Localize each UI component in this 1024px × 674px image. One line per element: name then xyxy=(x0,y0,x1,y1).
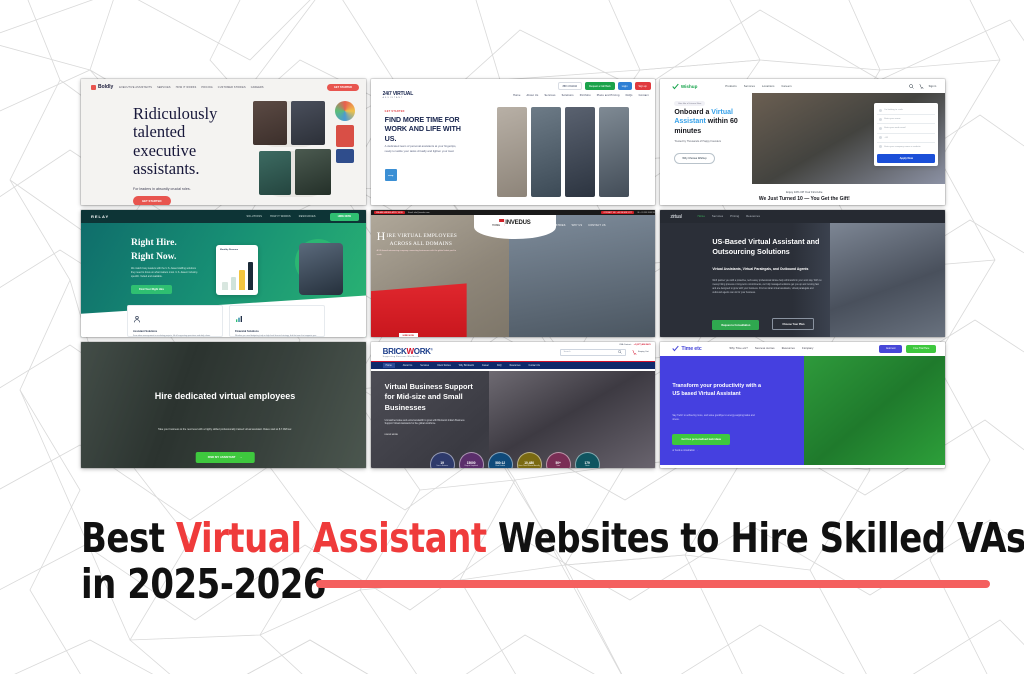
c9-nav-buttons: Auto test Free Trial Here xyxy=(879,345,936,353)
c3-navbar: Wishup Products Services Locations Caree… xyxy=(660,79,945,93)
c4-feature-card[interactable]: Assistant Solutions From inbox managemen… xyxy=(127,305,223,336)
c4-chart-card: Monthly Revenue xyxy=(216,245,258,295)
c9-headline: Transform your productivity with a US ba… xyxy=(672,382,764,400)
promo-line-1: Enjoy 10% Off Your First Hire xyxy=(786,190,822,194)
c8-logo-text: BRICKWORK® xyxy=(383,347,433,356)
nav-item[interactable]: Solutions xyxy=(562,94,574,97)
c8-enquiry-cart[interactable]: Enquiry Cart xyxy=(632,350,649,355)
c7-paragraph: Take your business to the next level wit… xyxy=(81,428,366,432)
c8-know-more-link[interactable]: KNOW MORE xyxy=(385,434,398,436)
stat-circle: 50+Team xyxy=(546,452,571,468)
nav-item[interactable]: Contact xyxy=(639,94,649,97)
nav-item[interactable]: Home xyxy=(698,215,705,218)
c8-search-area: Search Enquiry Cart xyxy=(560,349,649,356)
c2-eyebrow: GET STARTED xyxy=(385,110,405,113)
award-badge xyxy=(336,149,354,163)
nav-item[interactable]: Services xyxy=(420,365,429,367)
check-icon xyxy=(672,345,679,352)
nav-item[interactable]: CUSTOMER STORIES xyxy=(218,86,246,89)
nav-item[interactable]: Contact Us xyxy=(529,365,540,367)
form-row[interactable]: Enter your company name or website xyxy=(877,143,935,151)
nav-item[interactable]: ABOUT US xyxy=(510,224,524,227)
c3-headline: Onboard a Virtual Assistant within 60 mi… xyxy=(674,108,750,136)
nav-item[interactable]: PRICING xyxy=(201,86,212,89)
c6-secondary-cta[interactable]: Choose Your Plan xyxy=(772,318,814,330)
c2-topbar: 888 4 811044 Request a Call Back Login S… xyxy=(371,79,656,90)
nav-item[interactable]: FAQ xyxy=(497,365,502,367)
c5-cta-button[interactable]: HIRE NOW xyxy=(399,333,418,337)
site-card-invedus[interactable]: INVEDUS WE ARE HIRING! APPLY NOW Email: … xyxy=(371,210,656,336)
flag-icon xyxy=(879,136,882,139)
nav-item[interactable]: Resources xyxy=(746,215,760,218)
c3-nav-links: Products Services Locations Careers xyxy=(725,85,791,88)
c4-nav-links: SOLUTIONS HOW IT WORKS RESOURCES xyxy=(246,215,315,218)
site-card-time-etc[interactable]: Time etc Why Time etc? Success stories R… xyxy=(660,342,945,468)
c2-logo[interactable]: 24/7 VIRTUAL ASSISTANT xyxy=(383,91,413,99)
boldly-navbar: Boldly EXECUTIVE ASSISTANTS SERVICES HOW… xyxy=(81,79,366,95)
headline-highlight: Virtual Assistant xyxy=(176,514,487,562)
c6-headline: US-Based Virtual Assistant and Outsourci… xyxy=(712,237,830,257)
c6-navbar: zirtual Home Services Pricing Resources xyxy=(660,210,945,223)
chart-bar xyxy=(222,282,228,290)
hero-photo xyxy=(531,107,561,197)
chart-bar xyxy=(248,262,254,290)
c4-navbar: RELAY SOLUTIONS HOW IT WORKS RESOURCES H… xyxy=(81,210,366,223)
stat-circle: 19Years in Business xyxy=(430,452,455,468)
nav-item[interactable]: Locations xyxy=(762,85,775,88)
form-row[interactable]: Enter your work email xyxy=(877,124,935,133)
c7-headline: Hire dedicated virtual employees xyxy=(81,390,366,402)
c8-logo[interactable]: BRICKWORK® Supporting Business Worldwide xyxy=(383,347,433,359)
nav-item[interactable]: HOW IT WORKS xyxy=(176,86,197,89)
stat-circle: 15000Projects Completed xyxy=(459,452,484,468)
c6-primary-cta[interactable]: Request a Consultation xyxy=(712,320,759,330)
c2-headline: FIND MORE TIME FOR WORK AND LIFE WITH US… xyxy=(385,115,465,143)
headline-underline xyxy=(316,580,990,588)
login-button[interactable]: Login xyxy=(618,82,632,90)
c4-person-photo xyxy=(299,243,343,295)
nav-item[interactable]: CONTACT US xyxy=(588,224,605,227)
dropdown-icon xyxy=(879,109,882,112)
c4-headline: Right Hire.Right Now. xyxy=(131,237,177,265)
nav-item[interactable]: Plans and Pricing xyxy=(597,94,620,97)
nav-item[interactable]: Resources xyxy=(510,365,521,367)
nav-item[interactable]: EXECUTIVE ASSISTANTS xyxy=(119,86,152,89)
user-icon xyxy=(879,118,882,121)
nav-item[interactable]: HOW IT WORKS xyxy=(270,215,291,218)
promo-line-2: We Just Turned 10 — You Get the Gift! xyxy=(759,196,850,202)
cart-icon[interactable] xyxy=(919,84,924,89)
callback-button[interactable]: Request a Call Back xyxy=(585,82,615,90)
nav-item[interactable]: Success stories xyxy=(755,347,775,350)
c7-overlay xyxy=(81,342,366,468)
hero-photo xyxy=(599,107,629,197)
nav-item[interactable]: Services xyxy=(544,94,555,97)
nav-item[interactable]: Pricing xyxy=(730,215,739,218)
chart-bar xyxy=(239,270,245,290)
nav-item[interactable]: Careers xyxy=(782,85,792,88)
nav-item[interactable]: About Us xyxy=(403,365,412,367)
nav-item[interactable]: Client Stories xyxy=(437,365,451,367)
c9-navbar: Time etc Why Time etc? Success stories R… xyxy=(660,342,945,356)
c4-nav-cta[interactable]: HIRE NOW xyxy=(330,213,359,221)
website-card-grid: Boldly EXECUTIVE ASSISTANTS SERVICES HOW… xyxy=(81,79,945,468)
nav-item[interactable]: SOLUTIONS xyxy=(246,215,262,218)
signup-button[interactable]: Sign up xyxy=(635,82,651,90)
award-badge xyxy=(336,125,354,147)
c6-logo[interactable]: zirtual xyxy=(670,214,681,220)
check-icon xyxy=(672,83,679,90)
building-icon xyxy=(879,145,882,148)
c9-cta-button[interactable]: Get free personalised task ideas xyxy=(672,434,730,445)
stat-circle: 179Clients xyxy=(575,452,600,468)
site-card-relay[interactable]: Right Hire.Right Now. We match busy lead… xyxy=(81,210,366,336)
c8-header: BRICKWORK® Supporting Business Worldwide… xyxy=(371,346,656,362)
c5-paragraph: A UK-based outsourcing company connectin… xyxy=(377,250,457,256)
mail-icon xyxy=(879,127,882,130)
c2-arrow-button[interactable]: ⟶ xyxy=(385,169,397,181)
boldly-nav-links: EXECUTIVE ASSISTANTS SERVICES HOW IT WOR… xyxy=(119,86,263,89)
chart-bar xyxy=(231,277,237,290)
c8-logo-sub: Supporting Business Worldwide xyxy=(383,356,433,358)
search-icon[interactable] xyxy=(909,84,914,89)
hero-photo xyxy=(497,107,527,197)
site-card-247virtual[interactable]: 888 4 811044 Request a Call Back Login S… xyxy=(371,79,656,205)
feature-title: Financial Solutions xyxy=(235,330,319,333)
nav-item[interactable]: INDUSTRIES xyxy=(549,224,565,227)
bar-chart-icon xyxy=(235,315,243,323)
c2-paragraph: A dedicated team of personal assistants … xyxy=(385,144,457,153)
signin-link[interactable]: Sign in xyxy=(929,85,937,88)
feature-text: Whether you need budgeting help or high-… xyxy=(235,335,319,337)
nav-item[interactable]: Company xyxy=(802,347,814,350)
boldly-cta-button[interactable]: GET STARTED xyxy=(133,196,171,205)
c2-navbar: 24/7 VIRTUAL ASSISTANT Home About Us Ser… xyxy=(371,90,656,99)
form-row[interactable]: +91 xyxy=(877,134,935,143)
c9-nav-cta-2[interactable]: Free Trial Here xyxy=(906,345,936,353)
c9-nav-links: Why Time etc? Success stories Resources … xyxy=(730,347,814,350)
form-row[interactable]: I'm looking to scale xyxy=(877,106,935,115)
c5-nav-links: HOME ABOUT US SERVICES INDUSTRIES WHY US… xyxy=(489,222,606,228)
page-headline: Best Virtual Assistant Websites to Hire … xyxy=(81,515,981,607)
c8-stats-row: 19Years in Business 15000Projects Comple… xyxy=(430,452,600,468)
util-phone[interactable]: +1 (877) 898 2421 xyxy=(634,344,651,346)
c4-cta-button[interactable]: Find Your Right Hire xyxy=(131,285,172,294)
c4-hero: Right Hire.Right Now. We match busy lead… xyxy=(81,223,366,336)
boldly-headline: Ridiculously talented executive assistan… xyxy=(133,105,243,179)
nav-item[interactable]: Portfolio xyxy=(580,94,591,97)
c3-logo[interactable]: Wishup xyxy=(672,83,697,90)
c3-logo-text: Wishup xyxy=(681,84,698,89)
feature-title: Assistant Solutions xyxy=(133,330,217,333)
user-icon xyxy=(133,315,141,323)
c9-logo[interactable]: Time etc xyxy=(672,345,701,352)
stat-circle: 580:12Client Portfolio xyxy=(488,452,513,468)
c4-feature-card[interactable]: Financial Solutions Whether you need bud… xyxy=(229,305,325,336)
site-card-brickwork[interactable]: USA Contact: +1 (877) 898 2421 BRICKWORK… xyxy=(371,342,656,468)
nav-item[interactable]: SERVICES xyxy=(529,224,543,227)
c9-logo-text: Time etc xyxy=(681,346,701,352)
c3-trust-text: Trusted by Thousands of Happy Founders xyxy=(674,140,744,144)
c7-cta-button[interactable]: FIND MY ASSISTANT→ xyxy=(196,452,255,463)
c6-hero-photo xyxy=(830,223,945,336)
c4-logo[interactable]: RELAY xyxy=(91,214,109,219)
contact-uk[interactable]: CONTACT UK: +44 208 638 5177 xyxy=(601,211,634,214)
nav-item[interactable]: WHY US xyxy=(572,224,583,227)
c8-headline: Virtual Business Support for Mid-size an… xyxy=(385,382,483,414)
nav-item[interactable]: Why Brickwork xyxy=(459,365,474,367)
boldly-logo-text: Boldly xyxy=(98,84,113,90)
c8-paragraph: Unmatched value and extra bandwidth to g… xyxy=(385,420,469,427)
c6-subhead: Virtual Assistants, Virtual Paralegals, … xyxy=(712,267,830,272)
feature-text: From inbox management to marketing proje… xyxy=(133,335,217,337)
c2-nav-links: Home About Us Services Solutions Portfol… xyxy=(513,94,649,97)
site-card-wishup[interactable]: Wishup Products Services Locations Caree… xyxy=(660,79,945,205)
boldly-logo[interactable]: Boldly xyxy=(91,84,113,90)
nav-item[interactable]: Services xyxy=(712,215,723,218)
arrow-icon: → xyxy=(239,455,242,459)
person-photo xyxy=(253,101,287,145)
nav-item[interactable]: Why Time etc? xyxy=(730,347,748,350)
c4-chart-bars xyxy=(222,262,253,290)
c9-paragraph: Say 'hello' to achieving more, and wave … xyxy=(672,414,758,422)
form-row[interactable]: Enter your name xyxy=(877,115,935,124)
site-card-zirtual[interactable]: US-Based Virtual Assistant and Outsourci… xyxy=(660,210,945,336)
c9-secondary-link[interactable]: or book a consultation → xyxy=(672,450,697,452)
site-card-remote-coworker[interactable]: RemoteRemote CoWorker Services Industrie… xyxy=(81,342,366,468)
person-photo xyxy=(295,149,331,195)
boldly-nav-cta[interactable]: GET STARTED xyxy=(327,84,359,91)
c3-promo-banner: Enjoy 10% Off Your First Hire We Just Tu… xyxy=(660,184,945,205)
nav-item[interactable]: SERVICES xyxy=(157,86,171,89)
nav-item[interactable]: Products xyxy=(725,85,736,88)
c4-chart-title: Monthly Revenue xyxy=(220,249,254,251)
c3-apply-button[interactable]: Apply Now xyxy=(877,154,935,163)
c3-hero: Hire like a Unicorn Now Onboard a Virtua… xyxy=(660,93,945,184)
cart-icon xyxy=(632,350,637,355)
boldly-logo-mark xyxy=(91,85,96,90)
site-card-boldly[interactable]: Boldly EXECUTIVE ASSISTANTS SERVICES HOW… xyxy=(81,79,366,205)
c6-hero: US-Based Virtual Assistant and Outsourci… xyxy=(660,223,945,336)
contact-in[interactable]: IN: +91 999 9999 999 xyxy=(637,212,655,214)
c9-nav-cta-1[interactable]: Auto test xyxy=(879,345,902,353)
c8-navbar: Home About Us Services Client Stories Wh… xyxy=(371,361,656,369)
c5-headline: HIRE VIRTUAL EMPLOYEES ACROSS ALL DOMAIN… xyxy=(377,232,457,248)
nav-item[interactable]: Services xyxy=(744,85,755,88)
c3-ghost-cta[interactable]: Why Choose Wishup xyxy=(674,153,714,164)
nav-item[interactable]: RESOURCES xyxy=(299,215,316,218)
c3-signup-form[interactable]: I'm looking to scale Enter your name Ent… xyxy=(874,103,938,166)
phone-chip[interactable]: 888 4 811044 xyxy=(558,82,582,90)
nav-item[interactable]: Home xyxy=(383,363,395,368)
person-photo xyxy=(291,101,325,145)
c3-nav-right: Sign in xyxy=(909,84,937,89)
nav-item[interactable]: Resources xyxy=(782,347,795,350)
stat-circle: 10,480Hours Client Delivered Annually xyxy=(517,452,542,468)
nav-item[interactable]: Career xyxy=(482,365,489,367)
nav-item[interactable]: CAREERS xyxy=(251,86,264,89)
c8-search-input[interactable]: Search xyxy=(560,349,626,356)
c6-paragraph: We'll partner you with a proactive, tech… xyxy=(712,279,822,295)
c6-nav-links: Home Services Pricing Resources xyxy=(698,215,760,218)
email-text[interactable]: Email: info@invedus.com xyxy=(408,212,429,214)
c3-eyebrow: Hire like a Unicorn Now xyxy=(674,101,705,106)
nav-item[interactable]: FAQs xyxy=(626,94,633,97)
hiring-chip[interactable]: WE ARE HIRING! APPLY NOW xyxy=(374,211,406,214)
nav-item[interactable]: About Us xyxy=(527,94,539,97)
c9-bottom-band xyxy=(660,465,945,468)
hero-photo xyxy=(565,107,595,197)
boldly-hero: Ridiculously talented executive assistan… xyxy=(81,95,366,205)
c9-hero-photo xyxy=(799,356,945,468)
c5-red-panel xyxy=(371,283,467,336)
c4-paragraph: We match busy leaders with the U.S.-base… xyxy=(131,267,201,279)
headline-line-1: Best Virtual Assistant Websites to Hire … xyxy=(81,515,909,561)
search-icon[interactable] xyxy=(618,350,622,354)
boldly-subtext: For leaders in absurdly crucial roles. xyxy=(133,187,243,191)
award-badge xyxy=(335,101,355,121)
person-photo xyxy=(259,151,291,195)
nav-item[interactable]: HOME xyxy=(489,222,504,228)
util-label: USA Contact: xyxy=(619,344,631,346)
c2-logo-sub: ASSISTANT xyxy=(383,97,413,99)
nav-item[interactable]: Home xyxy=(513,94,520,97)
